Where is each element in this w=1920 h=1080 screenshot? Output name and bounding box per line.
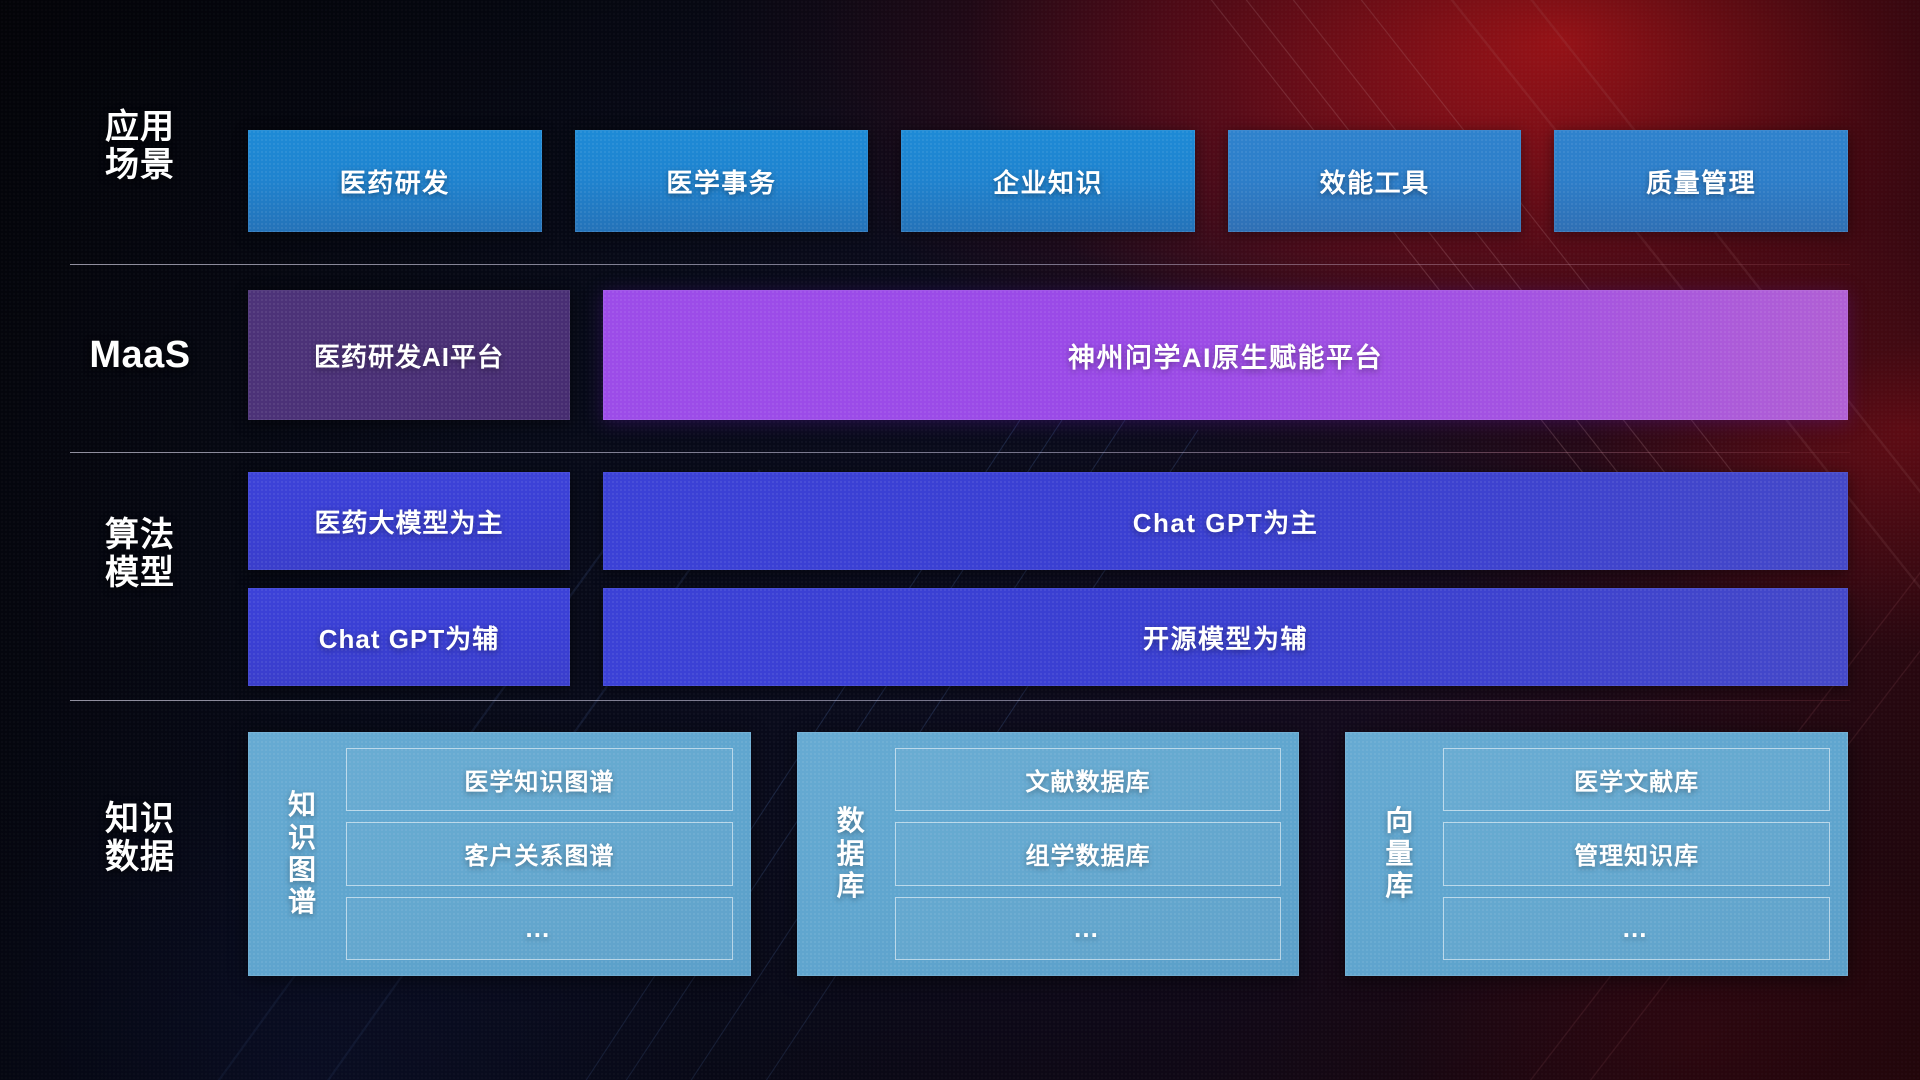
maas-box-pharma-ai-platform[interactable]: 医药研发AI平台 <box>248 290 570 420</box>
side-label-char: 知 <box>288 789 316 821</box>
algorithm-row-secondary: Chat GPT为辅 开源模型为辅 <box>248 588 1848 686</box>
side-label-char: 库 <box>837 870 865 902</box>
knowledge-item[interactable]: 组学数据库 <box>895 822 1282 885</box>
knowledge-panel-database[interactable]: 数 据 库 文献数据库 组学数据库 … <box>797 732 1300 976</box>
knowledge-panel-side-label: 数 据 库 <box>815 748 887 960</box>
side-label-char: 图 <box>288 854 316 886</box>
row-label-application: 应用 场景 <box>70 108 210 184</box>
app-box-label: 效能工具 <box>1320 163 1430 200</box>
knowledge-panel-items: 文献数据库 组学数据库 … <box>887 748 1282 960</box>
app-box-medical-rd[interactable]: 医药研发 <box>248 130 542 232</box>
knowledge-item-more[interactable]: … <box>346 897 733 960</box>
side-label-char: 据 <box>837 838 865 870</box>
knowledge-item-more[interactable]: … <box>1443 897 1830 960</box>
algo-box-chatgpt-primary[interactable]: Chat GPT为主 <box>603 472 1848 570</box>
row-label-application-line2: 场景 <box>70 146 210 184</box>
knowledge-panel-items: 医学文献库 管理知识库 … <box>1435 748 1830 960</box>
knowledge-panel-items: 医学知识图谱 客户关系图谱 … <box>338 748 733 960</box>
row-label-algorithm: 算法 模型 <box>70 516 210 592</box>
row-label-knowledge: 知识 数据 <box>70 800 210 876</box>
app-box-label: 医学事务 <box>666 163 776 200</box>
layer-rows: 应用 场景 医药研发 医学事务 企业知识 效能工具 质量管理 <box>0 0 1920 1080</box>
algorithm-row-primary: 医药大模型为主 Chat GPT为主 <box>248 472 1848 570</box>
algo-left-label: Chat GPT为辅 <box>319 619 499 656</box>
row-label-maas-text: MaaS <box>70 334 210 377</box>
knowledge-panel-side-label: 向 量 库 <box>1363 748 1435 960</box>
app-box-efficiency-tools[interactable]: 效能工具 <box>1228 130 1522 232</box>
algo-right-label: 开源模型为辅 <box>1143 619 1308 656</box>
algo-box-chatgpt-secondary[interactable]: Chat GPT为辅 <box>248 588 570 686</box>
row-label-algorithm-line1: 算法 <box>70 516 210 554</box>
row-label-application-line1: 应用 <box>70 108 210 146</box>
side-label-char: 数 <box>837 805 865 837</box>
row-label-knowledge-line1: 知识 <box>70 800 210 838</box>
knowledge-item[interactable]: 文献数据库 <box>895 748 1282 811</box>
knowledge-panel-knowledge-graph[interactable]: 知 识 图 谱 医学知识图谱 客户关系图谱 … <box>248 732 751 976</box>
algo-right-label: Chat GPT为主 <box>1133 503 1318 540</box>
maas-left-label: 医药研发AI平台 <box>314 337 504 374</box>
algo-box-pharma-llm-primary[interactable]: 医药大模型为主 <box>248 472 570 570</box>
app-box-enterprise-knowledge[interactable]: 企业知识 <box>901 130 1195 232</box>
knowledge-panel-vector-store[interactable]: 向 量 库 医学文献库 管理知识库 … <box>1345 732 1848 976</box>
row-label-maas: MaaS <box>70 334 210 377</box>
knowledge-item-more[interactable]: … <box>895 897 1282 960</box>
divider-algorithm-knowledge <box>70 700 1850 701</box>
maas-box-shenzhou-wenxue-platform[interactable]: 神州问学AI原生赋能平台 <box>603 290 1848 420</box>
divider-maas-algorithm <box>70 452 1850 453</box>
row-label-knowledge-line2: 数据 <box>70 838 210 876</box>
knowledge-data-row: 知 识 图 谱 医学知识图谱 客户关系图谱 … 数 据 库 <box>248 732 1848 976</box>
knowledge-item[interactable]: 医学知识图谱 <box>346 748 733 811</box>
app-box-label: 企业知识 <box>993 163 1103 200</box>
knowledge-item[interactable]: 管理知识库 <box>1443 822 1830 885</box>
application-scenario-row: 医药研发 医学事务 企业知识 效能工具 质量管理 <box>248 130 1848 232</box>
app-box-quality-management[interactable]: 质量管理 <box>1554 130 1848 232</box>
knowledge-panel-side-label: 知 识 图 谱 <box>266 748 338 960</box>
knowledge-item[interactable]: 医学文献库 <box>1443 748 1830 811</box>
maas-right-label: 神州问学AI原生赋能平台 <box>1068 336 1383 375</box>
side-label-char: 向 <box>1385 805 1413 837</box>
app-box-label: 医药研发 <box>340 163 450 200</box>
side-label-char: 谱 <box>288 886 316 918</box>
diagram-canvas: 应用 场景 医药研发 医学事务 企业知识 效能工具 质量管理 <box>0 0 1920 1080</box>
app-box-medical-affairs[interactable]: 医学事务 <box>575 130 869 232</box>
side-label-char: 库 <box>1385 870 1413 902</box>
side-label-char: 量 <box>1385 838 1413 870</box>
knowledge-item[interactable]: 客户关系图谱 <box>346 822 733 885</box>
algo-box-opensource-secondary[interactable]: 开源模型为辅 <box>603 588 1848 686</box>
divider-application-maas <box>70 264 1850 265</box>
algo-left-label: 医药大模型为主 <box>314 503 503 540</box>
row-label-algorithm-line2: 模型 <box>70 554 210 592</box>
maas-row: 医药研发AI平台 神州问学AI原生赋能平台 <box>248 290 1848 420</box>
side-label-char: 识 <box>288 822 316 854</box>
app-box-label: 质量管理 <box>1646 163 1756 200</box>
